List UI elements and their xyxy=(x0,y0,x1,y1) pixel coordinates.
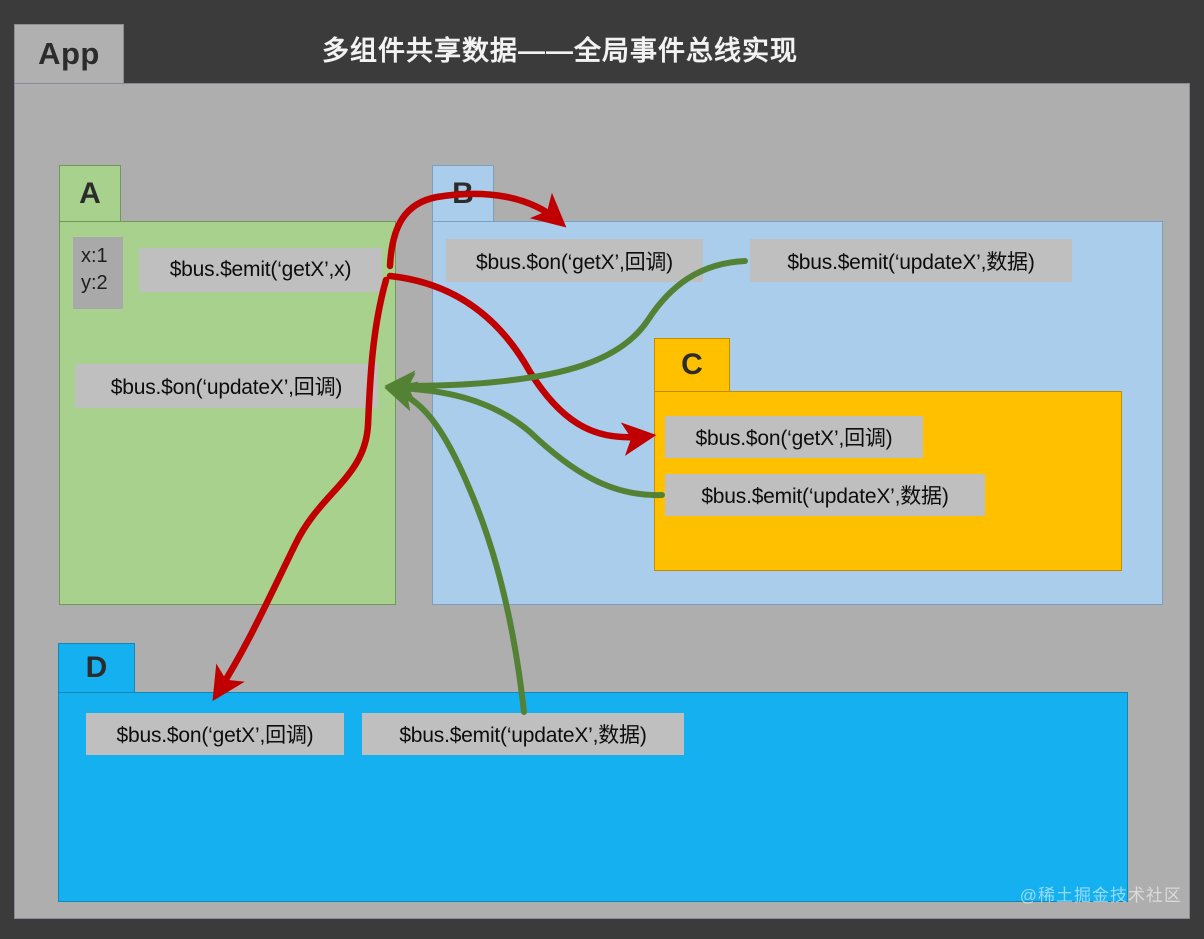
component-c-on-chip: $bus.$on(‘getX’,回调) xyxy=(665,416,923,458)
component-c-emit-chip: $bus.$emit(‘updateX’,数据) xyxy=(665,474,985,516)
component-a-on-chip: $bus.$on(‘updateX’,回调) xyxy=(75,364,378,408)
component-a-state-x: x:1 xyxy=(81,243,123,270)
component-b-on-chip: $bus.$on(‘getX’,回调) xyxy=(446,239,703,282)
component-d-on-chip: $bus.$on(‘getX’,回调) xyxy=(86,713,344,755)
component-c-label: C xyxy=(681,348,703,382)
diagram-canvas: App 多组件共享数据——全局事件总线实现 A x:1 y:2 $bus.$em… xyxy=(0,0,1204,939)
component-d-emit-chip: $bus.$emit(‘updateX’,数据) xyxy=(362,713,684,755)
component-b-label: B xyxy=(452,177,474,211)
component-b-tab: B xyxy=(432,165,494,222)
watermark: @稀土掘金技术社区 xyxy=(1020,881,1182,906)
component-a-state-y: y:2 xyxy=(81,270,123,297)
component-b-emit-chip: $bus.$emit(‘updateX’,数据) xyxy=(750,239,1072,282)
component-a-tab: A xyxy=(59,165,121,222)
component-c-tab: C xyxy=(654,338,730,392)
diagram-title: 多组件共享数据——全局事件总线实现 xyxy=(0,29,1120,68)
component-d-tab: D xyxy=(58,643,135,693)
component-d-label: D xyxy=(86,651,108,685)
component-a-label: A xyxy=(79,177,101,211)
title-bar: App 多组件共享数据——全局事件总线实现 xyxy=(0,0,1204,84)
component-a-emit-chip: $bus.$emit(‘getX’,x) xyxy=(139,248,382,292)
component-a-state-box: x:1 y:2 xyxy=(73,237,123,309)
